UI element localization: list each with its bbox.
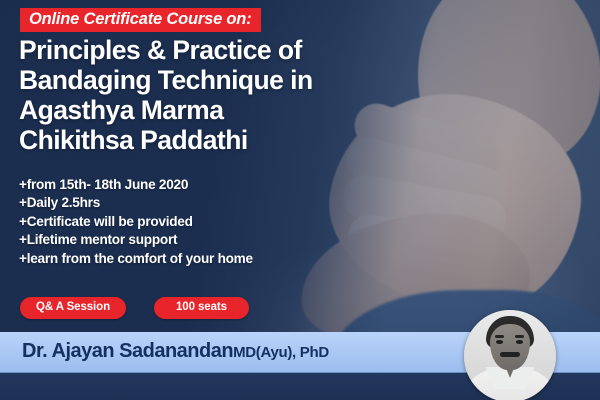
portrait-eye-right [516, 340, 523, 344]
portrait-eye-left [496, 340, 503, 344]
speaker-portrait-avatar [464, 310, 556, 400]
course-details-list: +from 15th- 18th June 2020 +Daily 2.5hrs… [19, 176, 253, 268]
course-title-line-4: Chikithsa Paddathi [19, 125, 519, 155]
course-title-line-3: Agasthya Marma [19, 95, 519, 125]
course-title-line-1: Principles & Practice of [19, 35, 519, 65]
badge-seats: 100 seats [154, 297, 249, 319]
speaker-credentials: MD(Ayu), PhD [233, 344, 329, 361]
detail-item-online: +learn from the comfort of your home [19, 250, 253, 268]
portrait-moustache [500, 352, 520, 357]
portrait-face [490, 324, 530, 370]
badge-qa-session: Q& A Session [20, 297, 126, 319]
speaker-full-name: Dr. Ajayan Sadanandan [22, 340, 233, 362]
portrait-eyebrow-left [495, 335, 504, 338]
detail-item-dates: +from 15th- 18th June 2020 [19, 176, 253, 194]
detail-item-mentor: +Lifetime mentor support [19, 231, 253, 249]
poster-content: Online Certificate Course on: Principles… [0, 0, 600, 400]
course-title: Principles & Practice of Bandaging Techn… [19, 35, 519, 155]
detail-item-duration: +Daily 2.5hrs [19, 194, 253, 212]
speaker-name-block: Dr. Ajayan SadanandanMD(Ayu), PhD [22, 337, 329, 366]
detail-item-certificate: +Certificate will be provided [19, 213, 253, 231]
course-poster: Online Certificate Course on: Principles… [0, 0, 600, 400]
portrait-eyebrow-right [515, 335, 524, 338]
course-title-line-2: Bandaging Technique in [19, 65, 519, 95]
badge-group: Q& A Session 100 seats [20, 297, 249, 319]
course-ribbon-banner: Online Certificate Course on: [20, 8, 261, 32]
